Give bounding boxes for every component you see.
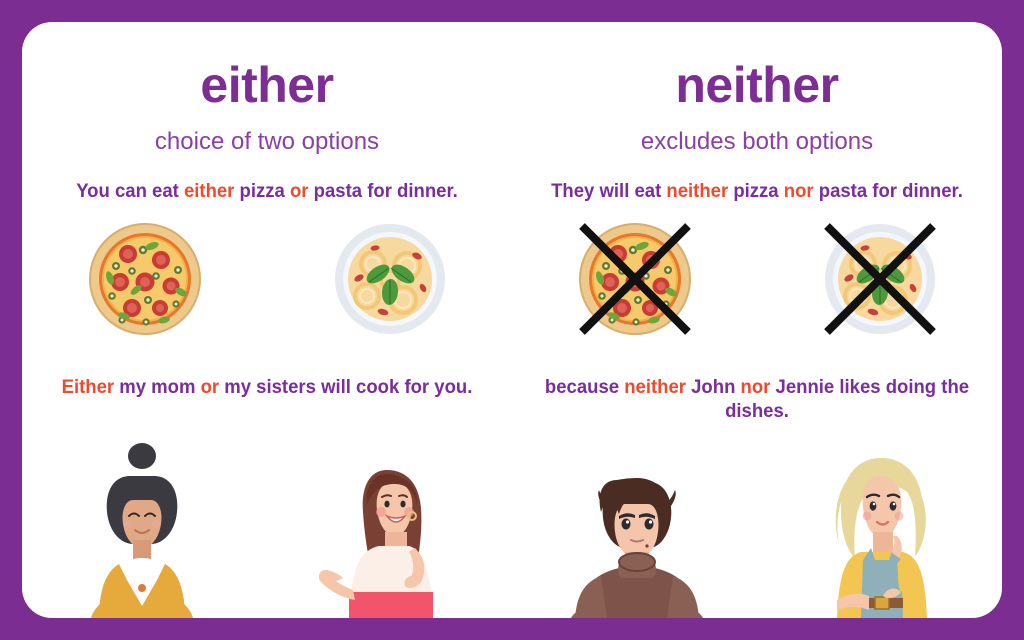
sentence-part: pasta for dinner.	[814, 180, 963, 202]
pasta-illustration-crossed	[821, 220, 939, 338]
keyword-nor: nor	[741, 376, 771, 398]
column-neither: neither excludes both options They will …	[512, 22, 1002, 618]
content-card: either choice of two options You can eat…	[22, 22, 1002, 618]
sentence-part: because	[545, 376, 624, 398]
pasta-illustration	[331, 220, 449, 338]
keyword-either: Either	[62, 376, 115, 398]
sentence-either-2: Either my mom or my sisters will cook fo…	[34, 376, 500, 400]
pizza-illustration-crossed	[576, 220, 694, 338]
column-either: either choice of two options You can eat…	[22, 22, 512, 618]
sentence-part: They will eat	[551, 180, 666, 202]
poster-background: either choice of two options You can eat…	[0, 0, 1024, 640]
sentence-neither-1: They will eat neither pizza nor pasta fo…	[524, 180, 990, 204]
sentence-part: pizza	[728, 180, 784, 202]
headword-neither: neither	[512, 60, 1002, 110]
keyword-either: either	[184, 180, 234, 202]
subtitle-either: choice of two options	[22, 130, 512, 154]
cross-out-icon	[821, 220, 939, 338]
two-column-layout: either choice of two options You can eat…	[22, 22, 1002, 618]
headword-either: either	[22, 60, 512, 110]
mom-illustration	[75, 440, 210, 618]
sentence-either-1: You can eat either pizza or pasta for di…	[34, 180, 500, 204]
keyword-or: or	[201, 376, 220, 398]
people-row-either	[22, 436, 512, 618]
subtitle-neither: excludes both options	[512, 130, 1002, 154]
keyword-nor: nor	[784, 180, 814, 202]
sentence-part: pizza	[234, 180, 290, 202]
sentence-part: You can eat	[76, 180, 184, 202]
keyword-neither: neither	[666, 180, 728, 202]
keyword-neither: neither	[624, 376, 686, 398]
john-illustration	[561, 448, 713, 618]
sentence-part: John	[686, 376, 741, 398]
sister-illustration	[317, 440, 459, 618]
sentence-part: my mom	[114, 376, 200, 398]
jennie-illustration	[811, 440, 953, 618]
sentence-part: my sisters will cook for you.	[219, 376, 472, 398]
food-row-neither	[512, 220, 1002, 350]
food-row-either	[22, 220, 512, 350]
cross-out-icon	[576, 220, 694, 338]
sentence-part: pasta for dinner.	[309, 180, 458, 202]
keyword-or: or	[290, 180, 309, 202]
sentence-neither-2: because neither John nor Jennie likes do…	[524, 376, 990, 424]
pizza-illustration	[86, 220, 204, 338]
people-row-neither	[512, 436, 1002, 618]
